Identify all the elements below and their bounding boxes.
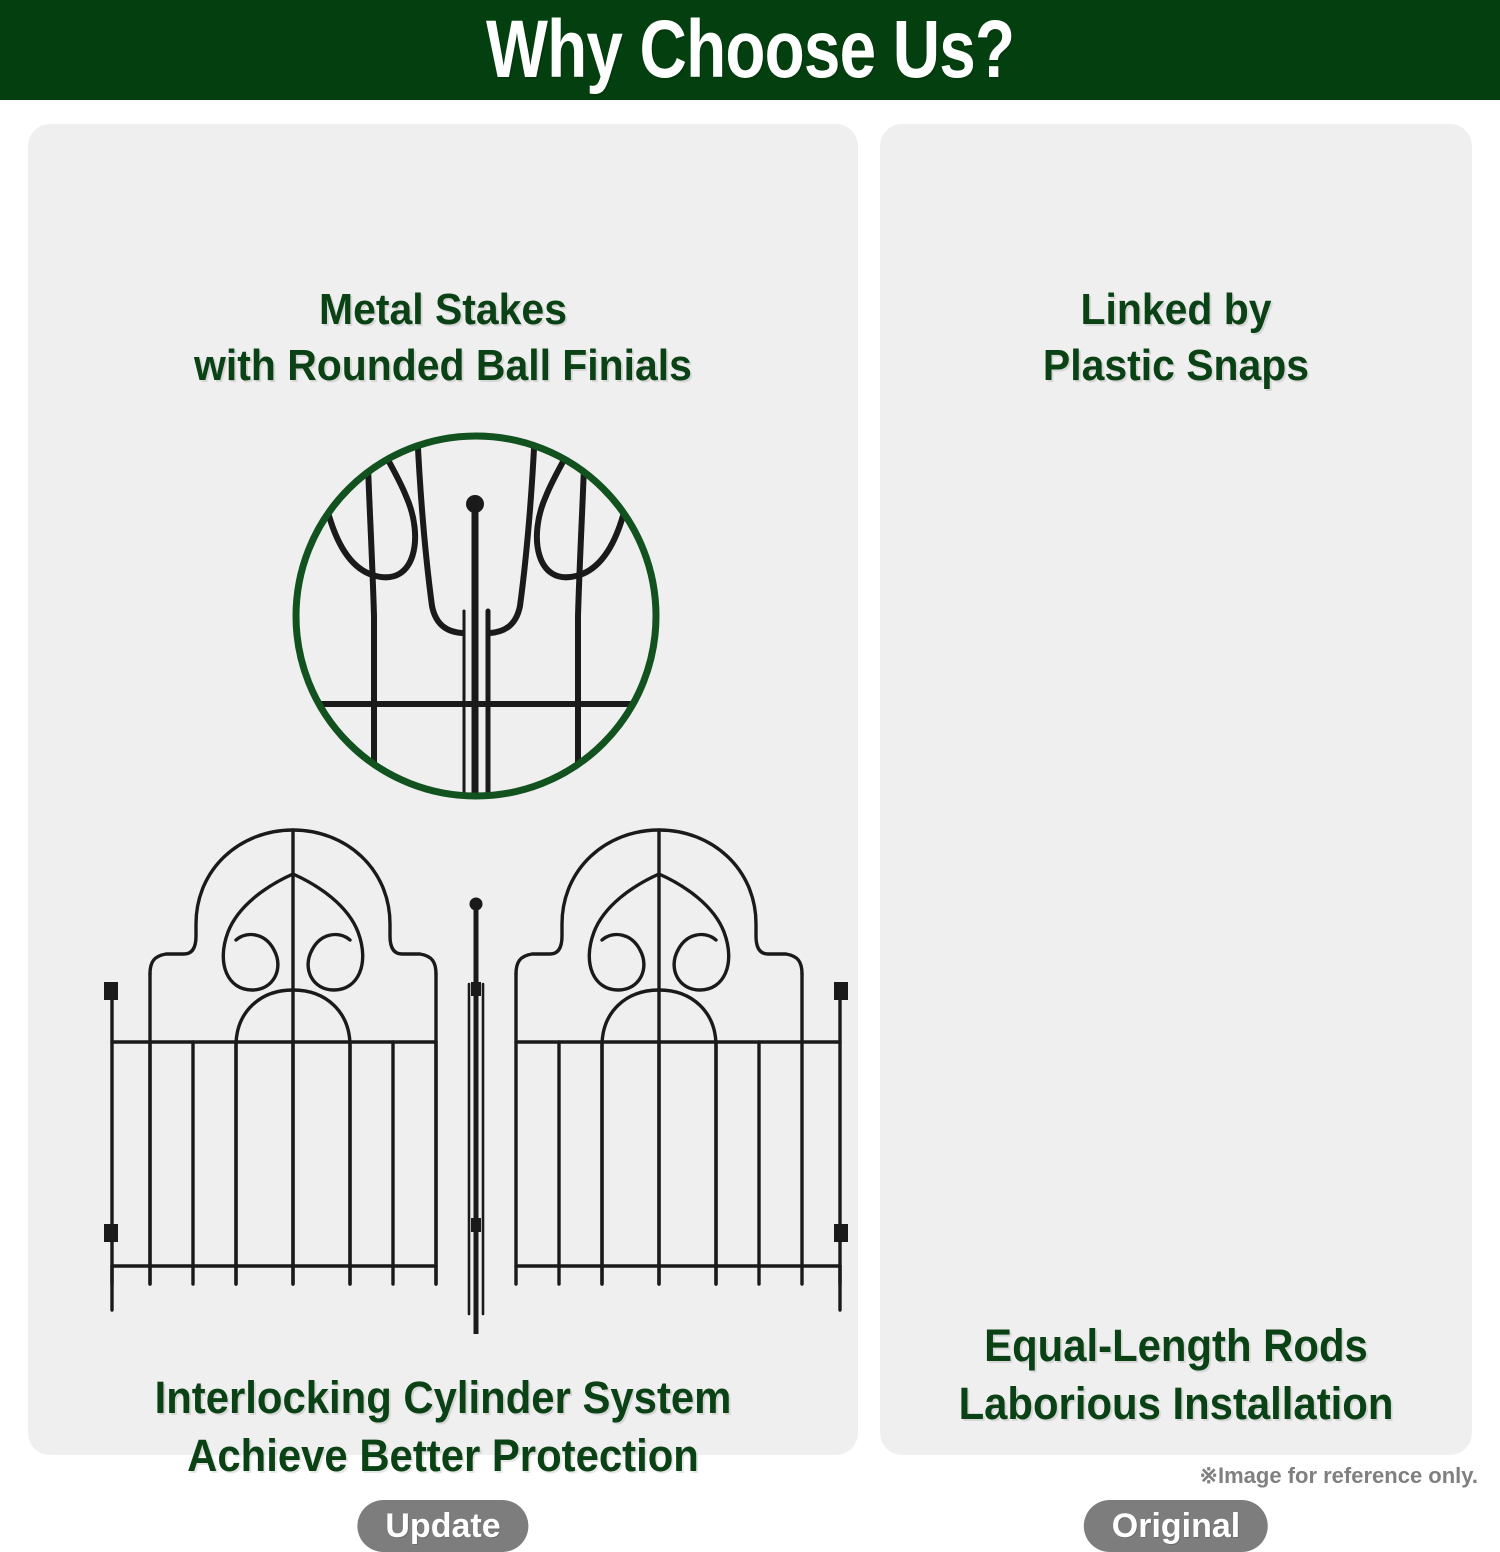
decorative-scroll-fence-panel-icon [88, 814, 878, 1334]
card-title-right: Linked by Plastic Snaps [901, 282, 1452, 394]
interlock-cylinder-icon [471, 982, 481, 996]
fence-top-ball-finial-closeup-icon [256, 426, 696, 806]
card-footer-left: Interlocking Cylinder System Achieve Bet… [57, 1369, 829, 1485]
interlock-cylinder-icon [471, 1218, 481, 1232]
status-badge-original: Original [1084, 1500, 1268, 1552]
header-banner: Why Choose Us? [0, 0, 1500, 100]
comparison-card-update: Metal Stakes with Rounded Ball Finials [28, 124, 858, 1455]
infographic-page: Why Choose Us? Metal Stakes with Rounded… [0, 0, 1500, 1500]
card-title-left: Metal Stakes with Rounded Ball Finials [57, 282, 829, 394]
status-badge-update: Update [357, 1500, 528, 1552]
page-title: Why Choose Us? [486, 9, 1014, 91]
card-footer-right: Equal-Length Rods Laborious Installation [901, 1317, 1452, 1433]
ball-finial-icon [466, 495, 484, 513]
disclaimer-text: ※Image for reference only. [1200, 1462, 1478, 1490]
center-stake-ball-finial-icon [470, 898, 483, 911]
comparison-card-original: Linked by Plastic Snaps [880, 124, 1472, 1455]
